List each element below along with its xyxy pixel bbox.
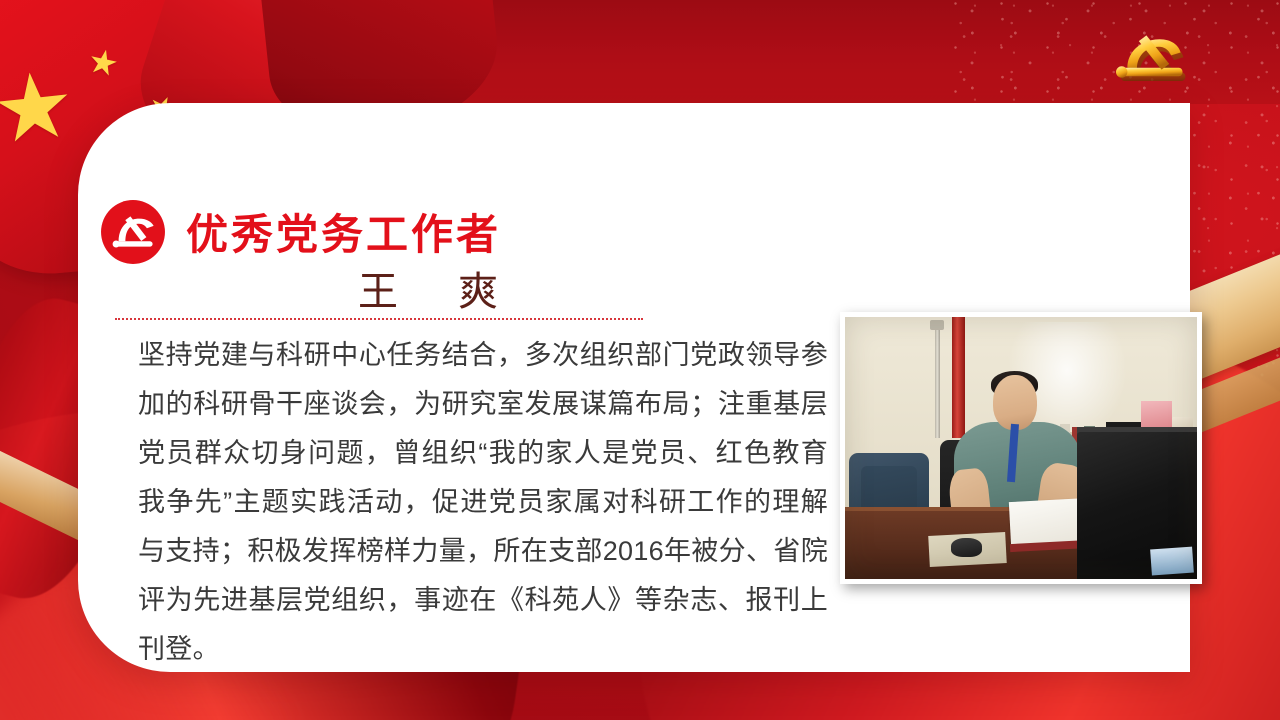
party-emblem-gold-icon — [1106, 24, 1202, 100]
flag-star-large-icon: ★ — [0, 58, 79, 158]
description-paragraph: 坚持党建与科研中心任务结合，多次组织部门党政领导参加的科研骨干座谈会，为研究室发… — [138, 331, 828, 674]
dotted-divider — [115, 318, 643, 320]
person-photo-frame — [840, 312, 1202, 584]
person-name: 王 爽 — [358, 259, 508, 317]
person-photo — [845, 317, 1197, 579]
photo-vignette — [845, 317, 1197, 579]
slide-root: ★ ★ ★ ★ ★ — [0, 0, 1280, 720]
content-card: 优秀党务工作者 王 爽 坚持党建与科研中心任务结合，多次组织部门党政领导参加的科… — [78, 103, 1190, 672]
party-emblem-badge-icon — [100, 199, 166, 265]
page-title: 优秀党务工作者 — [186, 201, 501, 262]
